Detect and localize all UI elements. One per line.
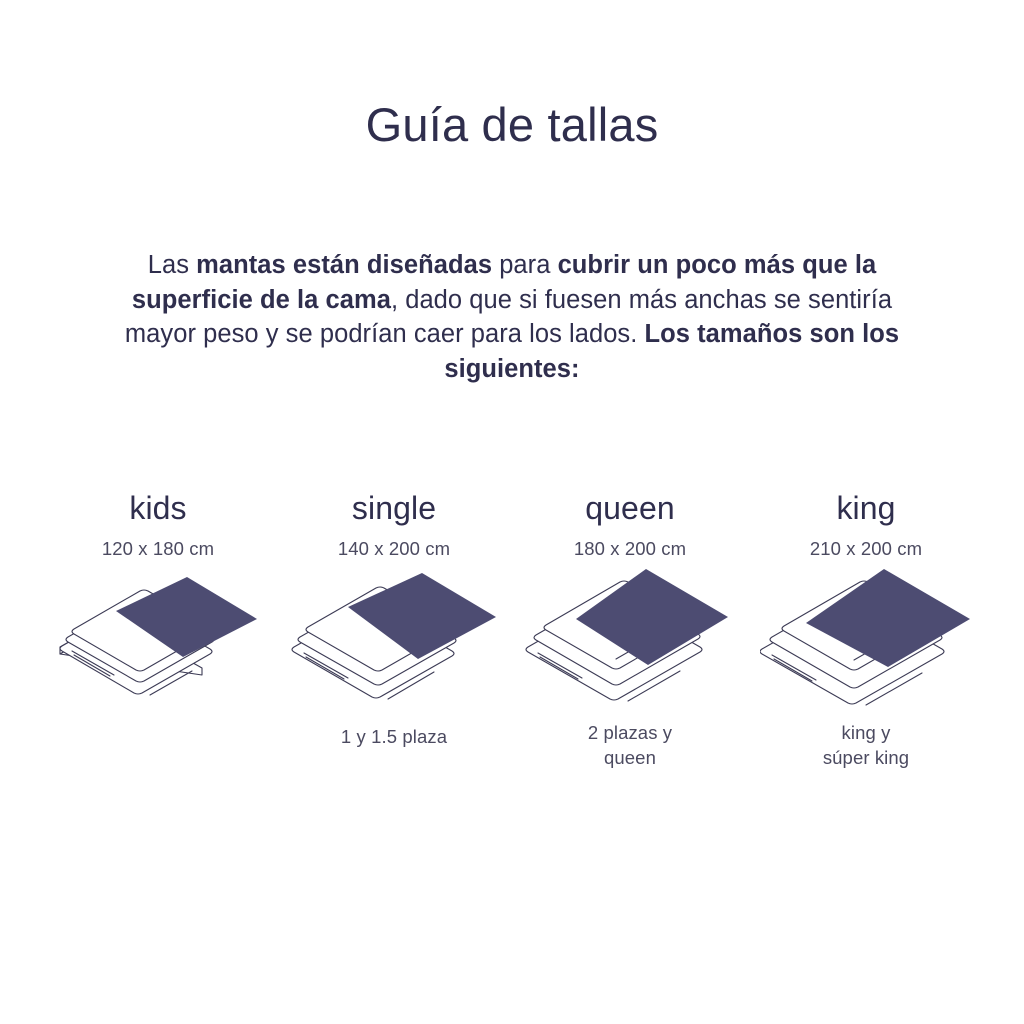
size-dimensions: 140 x 200 cm xyxy=(338,537,450,561)
size-dimensions: 120 x 180 cm xyxy=(102,537,214,561)
size-column-queen: queen 180 x 200 cm 2 plazas y queen xyxy=(512,488,748,770)
intro-text-1: Las xyxy=(148,251,196,279)
size-label: single xyxy=(352,488,436,528)
page-title: Guía de tallas xyxy=(0,98,1024,152)
bed-blanket-iso-icon xyxy=(524,567,736,717)
bed-blanket-iso-icon xyxy=(52,573,264,723)
size-label: king xyxy=(836,488,895,528)
size-dimensions: 180 x 200 cm xyxy=(574,537,686,561)
intro-text-2: para xyxy=(492,251,558,279)
bed-blanket-iso-icon xyxy=(288,571,500,721)
size-note: 1 y 1.5 plaza xyxy=(341,725,447,750)
intro-paragraph: Las mantas están diseñadas para cubrir u… xyxy=(112,248,912,386)
size-guide-page: Guía de tallas Las mantas están diseñada… xyxy=(0,0,1024,1024)
size-column-king: king 210 x 200 cm king y súper king xyxy=(748,488,984,770)
bed-blanket-iso-icon xyxy=(760,567,972,717)
size-note: king y súper king xyxy=(823,721,909,770)
size-label: kids xyxy=(129,488,186,528)
size-column-single: single 140 x 200 cm 1 y 1.5 plaza xyxy=(276,488,512,750)
size-label: queen xyxy=(585,488,674,528)
size-column-kids: kids 120 x 180 cm xyxy=(40,488,276,727)
size-dimensions: 210 x 200 cm xyxy=(810,537,922,561)
size-columns: kids 120 x 180 cm xyxy=(40,488,984,770)
intro-bold-1: mantas están diseñadas xyxy=(196,251,492,279)
size-note: 2 plazas y queen xyxy=(588,721,672,770)
